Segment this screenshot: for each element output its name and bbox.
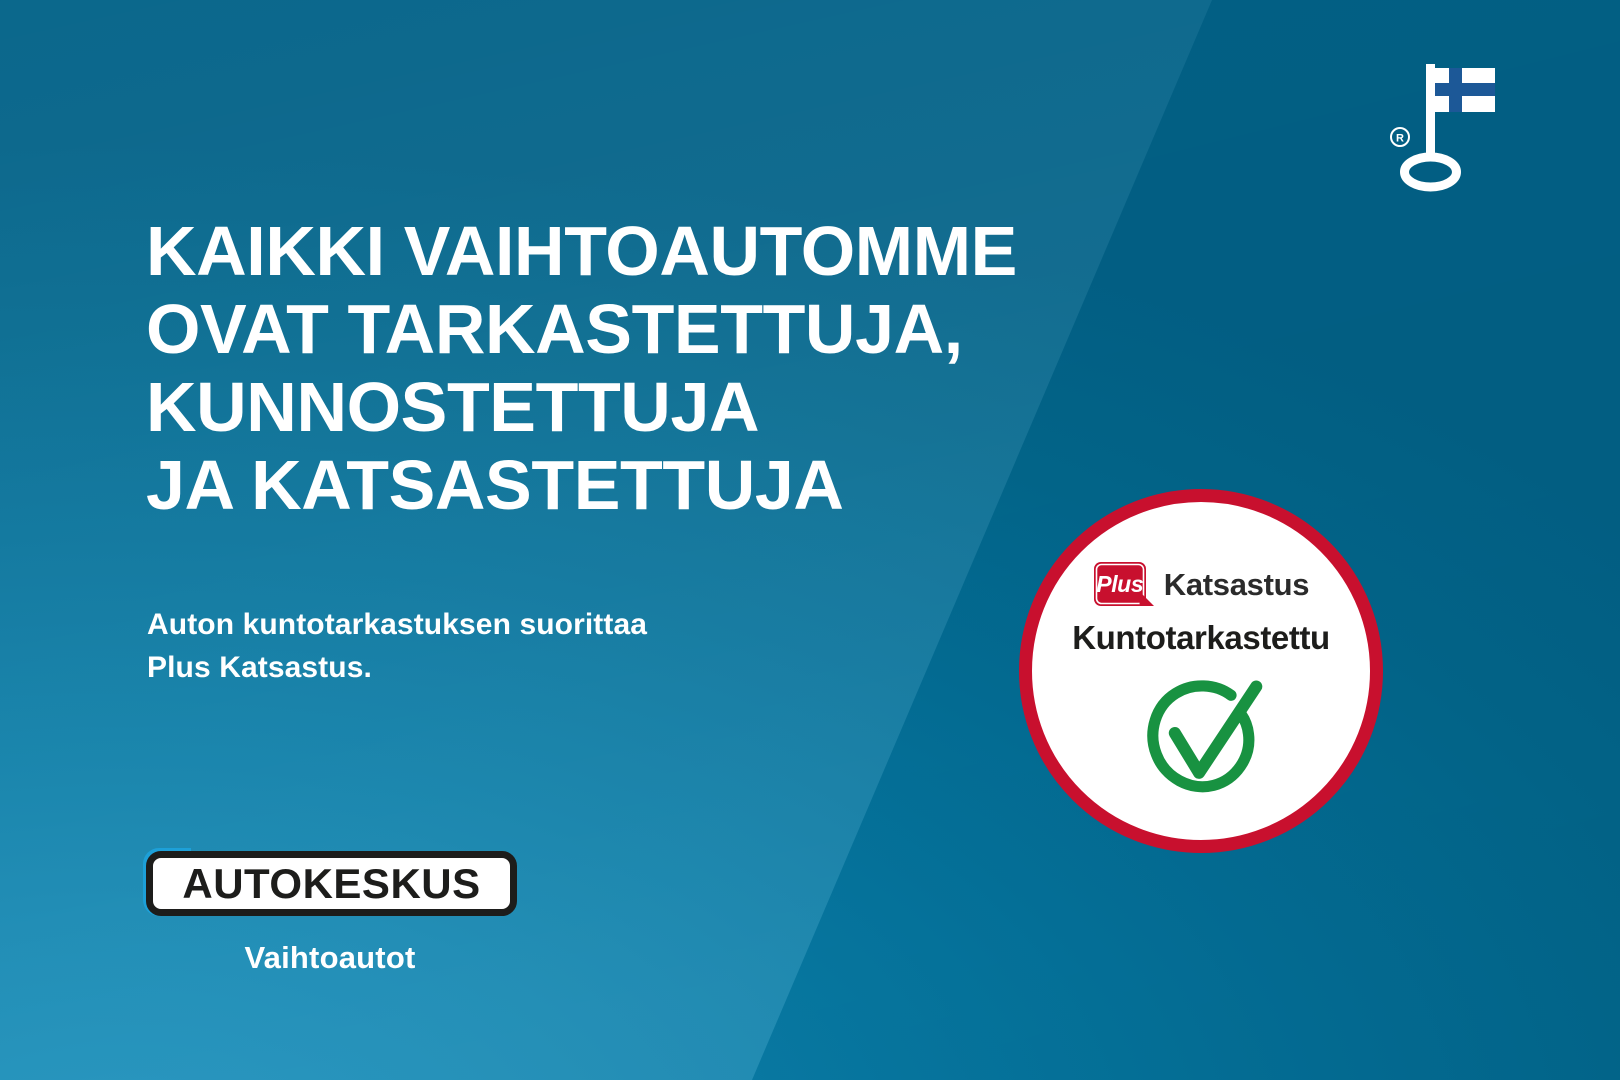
headline: KAIKKI VAIHTOAUTOMME OVAT TARKASTETTUJA,…	[146, 212, 1216, 524]
plus-logo-text: Plus	[1093, 561, 1147, 607]
green-check-circle-icon	[1138, 672, 1264, 803]
badge-title: Kuntotarkastettu	[1072, 621, 1330, 654]
plus-katsastus-badge: Plus Katsastus Kuntotarkastettu	[1019, 489, 1383, 853]
autokeskus-logo-text: AUTOKESKUS	[182, 863, 480, 905]
avainlippu-key-flag-icon: R	[1378, 52, 1498, 192]
subtitle-line-1: Auton kuntotarkastuksen suorittaa	[147, 604, 907, 647]
brand-tagline: Vaihtoautot	[143, 940, 517, 976]
svg-text:R: R	[1396, 133, 1404, 145]
badge-content: Plus Katsastus Kuntotarkastettu	[1032, 502, 1370, 840]
headline-line-3: KUNNOSTETTUJA	[146, 368, 1216, 446]
subtitle: Auton kuntotarkastuksen suorittaa Plus K…	[147, 604, 907, 689]
headline-line-1: KAIKKI VAIHTOAUTOMME	[146, 212, 1216, 290]
headline-line-2: OVAT TARKASTETTUJA,	[146, 290, 1216, 368]
plus-katsastus-logo: Plus Katsastus	[1093, 561, 1309, 607]
subtitle-line-2: Plus Katsastus.	[147, 647, 907, 690]
brand-block: AUTOKESKUS Vaihtoautot	[143, 848, 523, 976]
plus-logo-mark: Plus	[1093, 561, 1155, 607]
katsastus-logo-text: Katsastus	[1164, 569, 1309, 600]
autokeskus-logo-frame: AUTOKESKUS	[146, 851, 517, 916]
autokeskus-logo: AUTOKESKUS	[143, 848, 517, 916]
